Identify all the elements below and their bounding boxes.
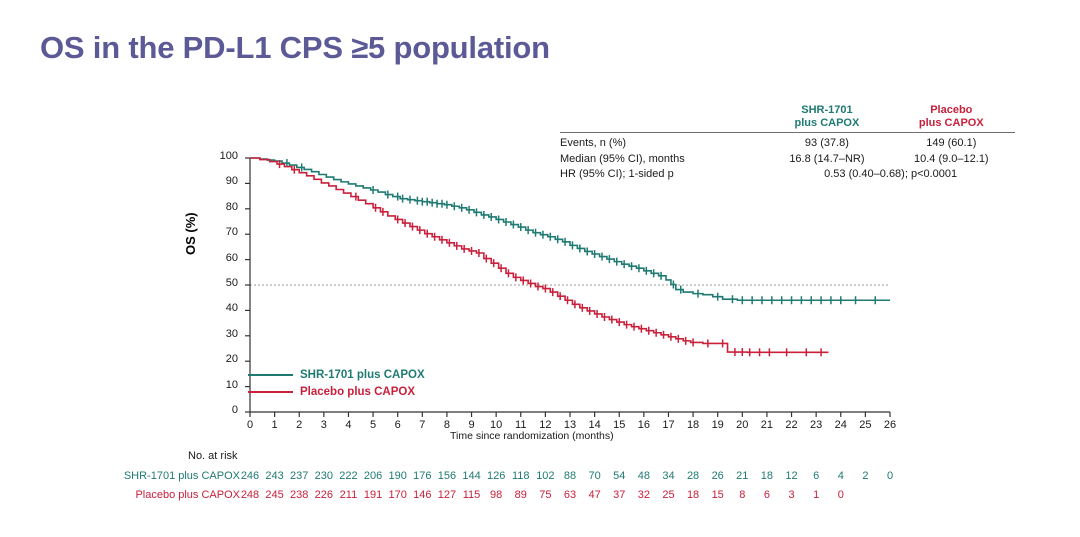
number-at-risk-value: 88 <box>557 470 583 482</box>
number-at-risk-value: 126 <box>483 470 509 482</box>
number-at-risk-value: 156 <box>434 470 460 482</box>
kaplan-meier-chart <box>0 0 1080 537</box>
number-at-risk-value: 245 <box>262 489 288 501</box>
x-axis-tick-label: 23 <box>804 419 828 431</box>
x-axis-tick-label: 9 <box>460 419 484 431</box>
number-at-risk-value: 0 <box>828 489 854 501</box>
x-axis-tick-label: 14 <box>583 419 607 431</box>
number-at-risk-value: 190 <box>385 470 411 482</box>
number-at-risk-value: 18 <box>680 489 706 501</box>
number-at-risk-value: 28 <box>680 470 706 482</box>
censor-marks-control <box>280 160 822 356</box>
number-at-risk-value: 2 <box>852 470 878 482</box>
legend-item-control: Placebo plus CAPOX <box>248 383 425 400</box>
x-axis-tick-label: 3 <box>312 419 336 431</box>
x-axis-tick-label: 8 <box>435 419 459 431</box>
legend-swatch-treatment <box>248 374 293 376</box>
number-at-risk-value: 37 <box>606 489 632 501</box>
number-at-risk-value: 70 <box>582 470 608 482</box>
legend-item-treatment: SHR-1701 plus CAPOX <box>248 366 425 383</box>
x-axis-tick-label: 11 <box>509 419 533 431</box>
x-axis-tick-label: 2 <box>287 419 311 431</box>
x-axis-title: Time since randomization (months) <box>450 430 614 442</box>
x-axis-tick-label: 20 <box>730 419 754 431</box>
number-at-risk-value: 1 <box>803 489 829 501</box>
number-at-risk-value: 246 <box>237 470 263 482</box>
number-at-risk-value: 98 <box>483 489 509 501</box>
number-at-risk-value: 226 <box>311 489 337 501</box>
y-axis-title: OS (%) <box>183 212 198 255</box>
y-axis-tick-label: 20 <box>208 353 238 365</box>
number-at-risk-value: 26 <box>705 470 731 482</box>
y-axis-tick-label: 40 <box>208 302 238 314</box>
x-axis-tick-label: 0 <box>238 419 262 431</box>
number-at-risk-value: 6 <box>754 489 780 501</box>
legend-label-control: Placebo plus CAPOX <box>300 386 415 398</box>
x-axis-tick-label: 17 <box>656 419 680 431</box>
censor-marks-treatment <box>287 159 875 304</box>
x-axis-tick-label: 25 <box>853 419 877 431</box>
legend-label-treatment: SHR-1701 plus CAPOX <box>300 369 425 381</box>
number-at-risk-row-label: Placebo plus CAPOX <box>60 489 240 501</box>
number-at-risk-value: 12 <box>779 470 805 482</box>
y-axis-tick-label: 10 <box>208 379 238 391</box>
number-at-risk-value: 8 <box>729 489 755 501</box>
number-at-risk-value: 237 <box>286 470 312 482</box>
number-at-risk-value: 21 <box>729 470 755 482</box>
x-axis-tick-label: 1 <box>263 419 287 431</box>
number-at-risk-value: 115 <box>459 489 485 501</box>
number-at-risk-value: 25 <box>655 489 681 501</box>
number-at-risk-value: 118 <box>508 470 534 482</box>
number-at-risk-value: 144 <box>459 470 485 482</box>
y-axis-tick-label: 30 <box>208 328 238 340</box>
number-at-risk-value: 206 <box>360 470 386 482</box>
y-axis-tick-label: 0 <box>208 404 238 416</box>
number-at-risk-value: 230 <box>311 470 337 482</box>
x-axis-tick-label: 4 <box>336 419 360 431</box>
km-curve-treatment <box>250 158 890 300</box>
number-at-risk-value: 222 <box>335 470 361 482</box>
number-at-risk-value: 146 <box>409 489 435 501</box>
x-axis-tick-label: 5 <box>361 419 385 431</box>
x-axis-tick-label: 19 <box>706 419 730 431</box>
x-axis-tick-label: 13 <box>558 419 582 431</box>
x-axis-tick-label: 7 <box>410 419 434 431</box>
x-axis-tick-label: 10 <box>484 419 508 431</box>
number-at-risk-value: 102 <box>532 470 558 482</box>
number-at-risk-value: 18 <box>754 470 780 482</box>
number-at-risk-value: 176 <box>409 470 435 482</box>
chart-legend: SHR-1701 plus CAPOX Placebo plus CAPOX <box>248 366 425 400</box>
number-at-risk-value: 238 <box>286 489 312 501</box>
x-axis-tick-label: 12 <box>533 419 557 431</box>
number-at-risk-value: 248 <box>237 489 263 501</box>
number-at-risk-caption: No. at risk <box>188 450 238 462</box>
number-at-risk-value: 170 <box>385 489 411 501</box>
number-at-risk-value: 4 <box>828 470 854 482</box>
number-at-risk-value: 89 <box>508 489 534 501</box>
y-axis-tick-label: 80 <box>208 201 238 213</box>
x-axis-tick-label: 15 <box>607 419 631 431</box>
number-at-risk-value: 191 <box>360 489 386 501</box>
number-at-risk-value: 211 <box>335 489 361 501</box>
number-at-risk-value: 48 <box>631 470 657 482</box>
x-axis-tick-label: 16 <box>632 419 656 431</box>
x-axis-tick-label: 24 <box>829 419 853 431</box>
number-at-risk-value: 15 <box>705 489 731 501</box>
y-axis-tick-label: 100 <box>208 150 238 162</box>
slide-root: OS in the PD-L1 CPS ≥5 population SHR-17… <box>0 0 1080 537</box>
number-at-risk-value: 75 <box>532 489 558 501</box>
number-at-risk-value: 0 <box>877 470 903 482</box>
x-axis-tick-label: 22 <box>780 419 804 431</box>
x-axis-tick-label: 18 <box>681 419 705 431</box>
y-axis-tick-label: 50 <box>208 277 238 289</box>
number-at-risk-value: 63 <box>557 489 583 501</box>
number-at-risk-row-label: SHR-1701 plus CAPOX <box>60 470 240 482</box>
x-axis-tick-label: 6 <box>386 419 410 431</box>
number-at-risk-value: 54 <box>606 470 632 482</box>
x-axis-tick-label: 21 <box>755 419 779 431</box>
km-curve-control <box>250 158 828 352</box>
number-at-risk-value: 32 <box>631 489 657 501</box>
legend-swatch-control <box>248 391 293 393</box>
y-axis-tick-label: 90 <box>208 175 238 187</box>
number-at-risk-value: 243 <box>262 470 288 482</box>
number-at-risk-value: 127 <box>434 489 460 501</box>
number-at-risk-value: 34 <box>655 470 681 482</box>
y-axis-tick-label: 70 <box>208 226 238 238</box>
number-at-risk-value: 6 <box>803 470 829 482</box>
number-at-risk-value: 3 <box>779 489 805 501</box>
y-axis-tick-label: 60 <box>208 252 238 264</box>
x-axis-tick-label: 26 <box>878 419 902 431</box>
number-at-risk-value: 47 <box>582 489 608 501</box>
